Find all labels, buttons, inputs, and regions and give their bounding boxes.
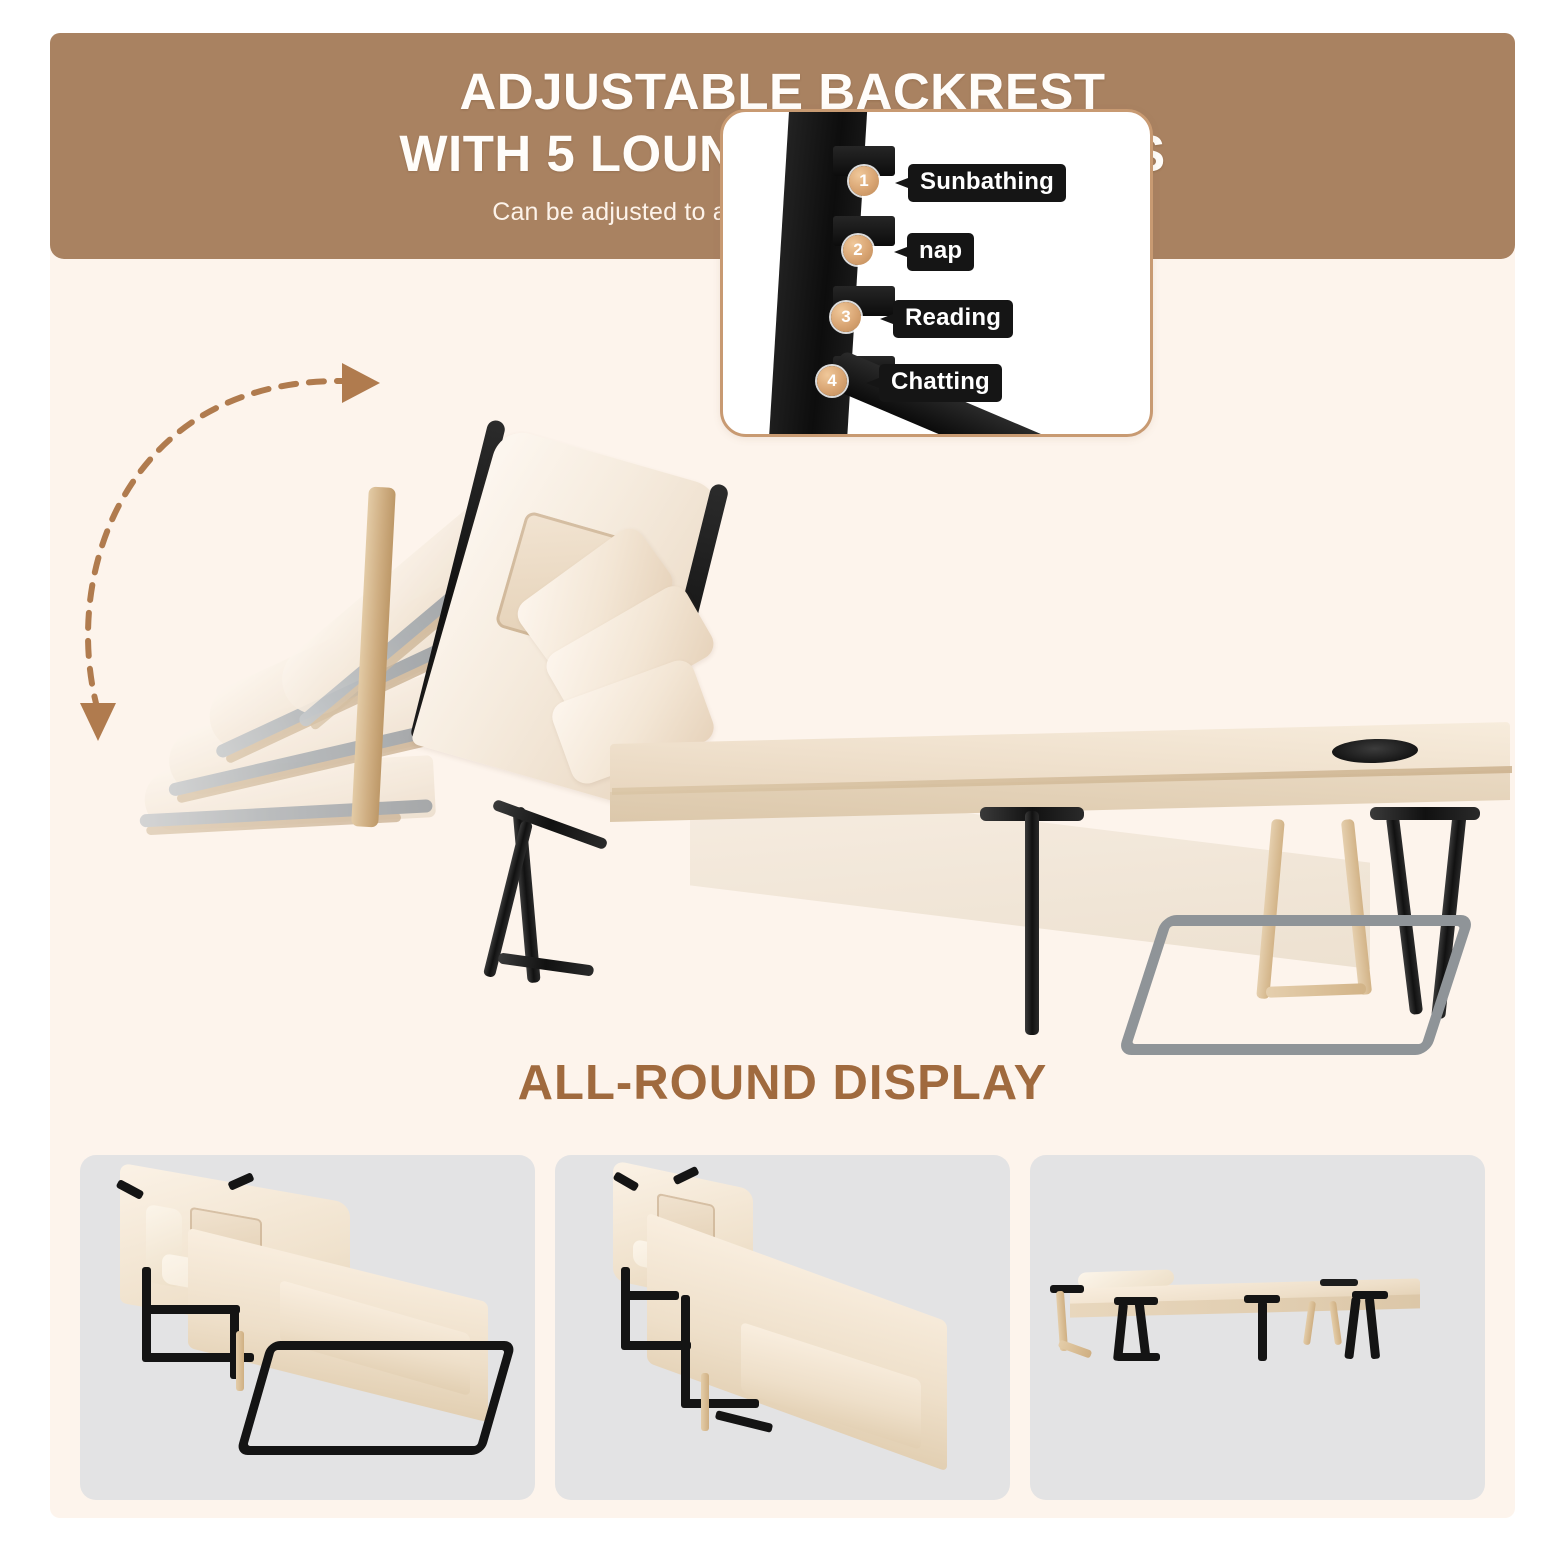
position-label-2: nap [907,233,974,271]
positions-callout: 1 Sunbathing 2 nap 3 Reading 4 Chatting [720,109,1153,437]
position-label-1: Sunbathing [908,164,1066,202]
position-badge-4: 4 [817,366,847,396]
thumbnail-row [80,1155,1485,1500]
ghost-foot-frame [1117,915,1474,1055]
thumbnail-top-diagonal-view[interactable] [555,1155,1010,1500]
position-badge-3: 3 [831,302,861,332]
thumbnail-angled-view[interactable] [80,1155,535,1500]
thumbnail-side-flat-view[interactable] [1030,1155,1485,1500]
position-badge-1: 1 [849,166,879,196]
leg-head-foot [498,952,595,976]
leg-mid-post [1025,811,1039,1035]
position-label-3: Reading [893,300,1013,338]
leg-foot-top-bar [1370,807,1480,820]
position-badge-2: 2 [843,235,873,265]
section-heading: ALL-ROUND DISPLAY [50,1055,1515,1111]
product-infographic: ADJUSTABLE BACKREST WITH 5 LOUNGING POSI… [50,33,1515,1518]
position-label-4: Chatting [879,364,1002,402]
leg-head-crossbar [492,799,609,850]
